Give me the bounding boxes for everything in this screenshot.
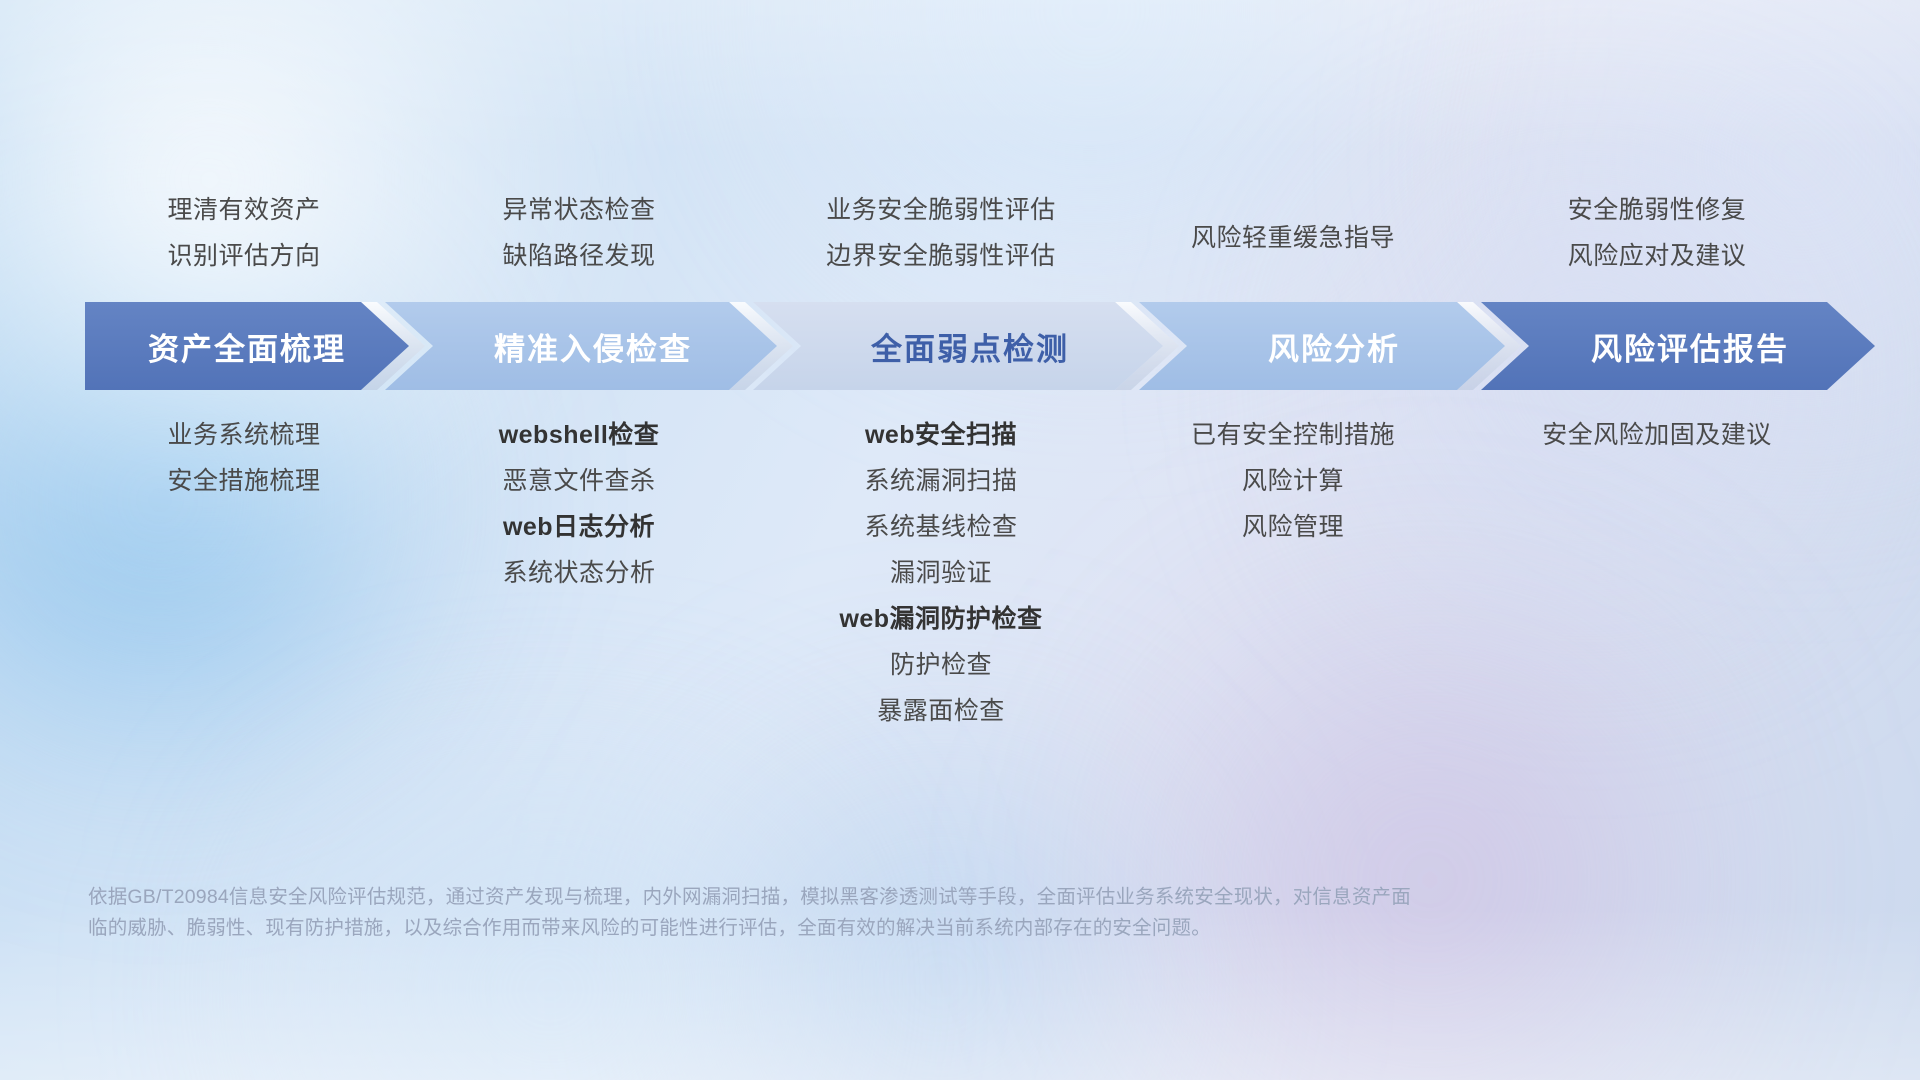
top-annotation-item: 理清有效资产 [167, 190, 320, 230]
bottom-annotation-item: web安全扫描 [865, 415, 1017, 455]
top-annotation-item: 安全脆弱性修复 [1568, 190, 1747, 230]
chevron-stage-5[interactable]: 风险评估报告 [1505, 302, 1875, 390]
footer-description: 依据GB/T20984信息安全风险评估规范，通过资产发现与梳理，内外网漏洞扫描，… [88, 882, 1418, 944]
top-annotations-stage-5: 安全脆弱性修复 风险应对及建议 [1459, 190, 1855, 276]
top-annotation-item: 边界安全脆弱性评估 [826, 236, 1056, 276]
bottom-annotation-item: 系统漏洞扫描 [864, 461, 1017, 501]
bottom-annotation-item: 恶意文件查杀 [502, 461, 655, 501]
top-annotation-item: 异常状态检查 [502, 190, 655, 230]
top-annotations-stage-1: 理清有效资产 识别评估方向 [85, 190, 403, 276]
process-chevron-banner: 资产全面梳理 精准入侵检查 全面弱点检测 风险分析 风险评估报告 [85, 302, 1875, 390]
bottom-annotation-item: 漏洞验证 [890, 553, 992, 593]
chevron-stage-4[interactable]: 风险分析 [1163, 302, 1505, 390]
bottom-annotation-item: 系统基线检查 [864, 507, 1017, 547]
chevron-label-stage-3: 全面弱点检测 [871, 324, 1069, 369]
top-annotation-item: 业务安全脆弱性评估 [826, 190, 1056, 230]
bottom-annotations-stage-2: webshell检查 恶意文件查杀 web日志分析 系统状态分析 [403, 415, 755, 593]
bottom-annotation-item: 已有安全控制措施 [1191, 415, 1395, 455]
bottom-annotation-item: 安全措施梳理 [167, 461, 320, 501]
top-annotations-row: 理清有效资产 识别评估方向 异常状态检查 缺陷路径发现 业务安全脆弱性评估 边界… [85, 190, 1855, 276]
bottom-annotations-row: 业务系统梳理 安全措施梳理 webshell检查 恶意文件查杀 web日志分析 … [85, 415, 1855, 731]
top-annotations-stage-3: 业务安全脆弱性评估 边界安全脆弱性评估 [755, 190, 1127, 276]
chevron-label-stage-2: 精准入侵检查 [494, 324, 692, 369]
bottom-annotation-item: 防护检查 [890, 645, 992, 685]
bottom-annotations-stage-3: web安全扫描 系统漏洞扫描 系统基线检查 漏洞验证 web漏洞防护检查 防护检… [755, 415, 1127, 731]
process-diagram: 理清有效资产 识别评估方向 异常状态检查 缺陷路径发现 业务安全脆弱性评估 边界… [0, 0, 1920, 1080]
top-annotation-item: 识别评估方向 [167, 236, 320, 276]
bottom-annotation-item: 风险计算 [1242, 461, 1344, 501]
top-annotation-item: 缺陷路径发现 [502, 236, 655, 276]
top-annotation-item: 风险轻重缓急指导 [1191, 218, 1395, 258]
bottom-annotation-item: web日志分析 [503, 507, 655, 547]
bottom-annotation-item: 安全风险加固及建议 [1542, 415, 1772, 455]
chevron-stage-1[interactable]: 资产全面梳理 [85, 302, 409, 390]
bottom-annotation-item: 系统状态分析 [502, 553, 655, 593]
top-annotations-stage-4: 风险轻重缓急指导 [1127, 190, 1459, 258]
chevron-stage-2[interactable]: 精准入侵检查 [409, 302, 777, 390]
bottom-annotation-item: 风险管理 [1242, 507, 1344, 547]
bottom-annotation-item: webshell检查 [499, 415, 660, 455]
bottom-annotation-item: web漏洞防护检查 [839, 599, 1042, 639]
chevron-label-stage-1: 资产全面梳理 [148, 324, 346, 369]
bottom-annotations-stage-5: 安全风险加固及建议 [1459, 415, 1855, 455]
top-annotations-stage-2: 异常状态检查 缺陷路径发现 [403, 190, 755, 276]
bottom-annotations-stage-1: 业务系统梳理 安全措施梳理 [85, 415, 403, 501]
bottom-annotation-item: 业务系统梳理 [167, 415, 320, 455]
chevron-label-stage-4: 风险分析 [1268, 324, 1400, 369]
bottom-annotations-stage-4: 已有安全控制措施 风险计算 风险管理 [1127, 415, 1459, 547]
top-annotation-item: 风险应对及建议 [1568, 236, 1747, 276]
chevron-label-stage-5: 风险评估报告 [1591, 324, 1789, 369]
bottom-annotation-item: 暴露面检查 [877, 691, 1005, 731]
chevron-stage-3[interactable]: 全面弱点检测 [777, 302, 1163, 390]
